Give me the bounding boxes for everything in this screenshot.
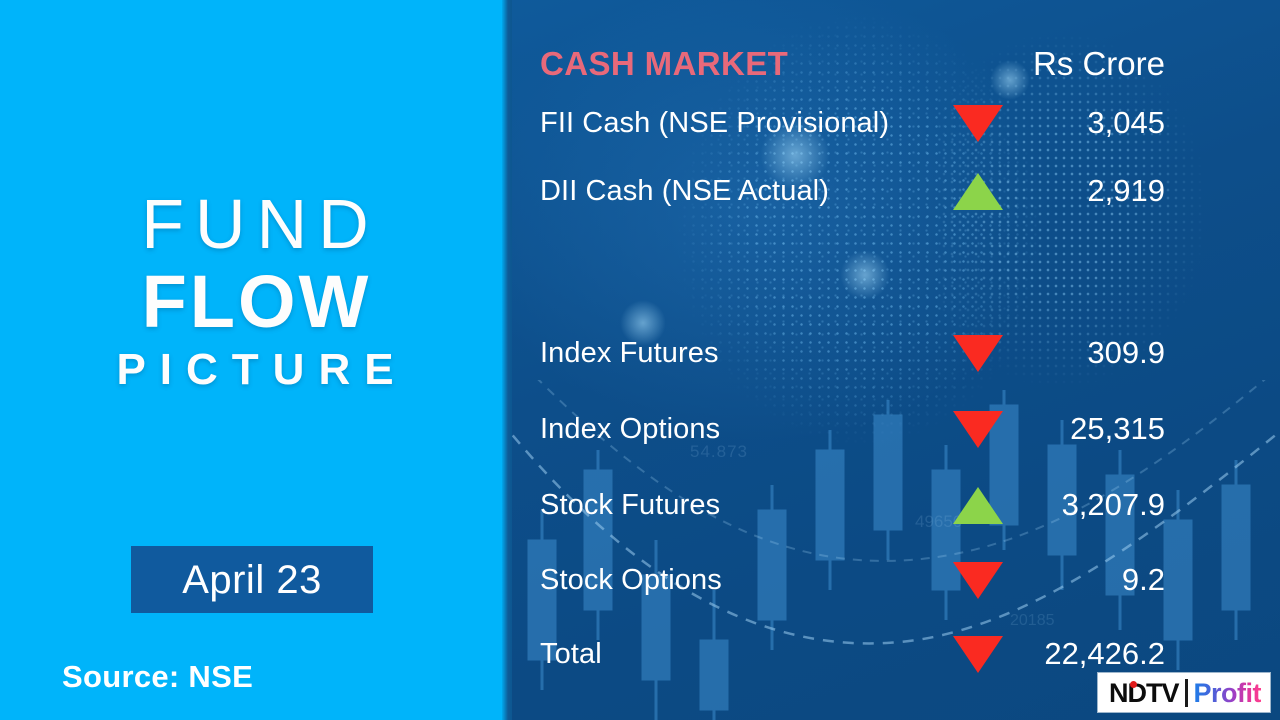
brand-line-picture: PICTURE [0,342,510,398]
row-label: Total [540,628,602,680]
data-panel: 54.873 49650 20185 CASH MARKET Rs Crore … [510,0,1280,720]
source-label: Source: NSE [62,659,253,695]
date-badge: April 23 [131,546,373,613]
profit-wordmark: Profit [1194,679,1262,707]
section-title-cash-market: CASH MARKET [540,41,788,87]
fund-flow-graphic: 54.873 49650 20185 CASH MARKET Rs Crore … [0,0,1280,720]
table-row: Stock Futures 3,207.9 [510,479,1280,531]
fund-flow-table: CASH MARKET Rs Crore FII Cash (NSE Provi… [510,0,1280,720]
table-row: Stock Options 9.2 [510,554,1280,606]
table-row: Index Options 25,315 [510,403,1280,455]
table-row: DII Cash (NSE Actual) 2,919 [510,165,1280,217]
brand-wordmark: FUND FLOW PICTURE [0,186,510,398]
ndtv-wordmark: NDTV [1109,679,1179,707]
row-label: FII Cash (NSE Provisional) [540,97,889,149]
row-value: 9.2 [840,554,1165,606]
row-label: Stock Futures [540,479,720,531]
date-badge-label: April 23 [182,558,322,602]
unit-label: Rs Crore [820,41,1165,87]
row-value: 3,207.9 [840,479,1165,531]
row-label: Index Futures [540,327,719,379]
row-label: DII Cash (NSE Actual) [540,165,829,217]
ndtv-wordmark-text: NDTV [1109,678,1179,708]
brand-line-flow: FLOW [0,262,510,342]
row-value: 2,919 [840,165,1165,217]
brand-line-fund: FUND [0,186,510,262]
row-value: 309.9 [840,327,1165,379]
ndtv-profit-logo: NDTV Profit [1098,673,1270,712]
row-value: 25,315 [840,403,1165,455]
ndtv-red-dot-icon [1130,681,1137,688]
row-value: 3,045 [840,97,1165,149]
title-panel: FUND FLOW PICTURE April 23 Source: NSE [0,0,510,720]
logo-divider [1185,679,1188,707]
panel-divider [502,0,512,720]
row-label: Stock Options [540,554,722,606]
table-row: Index Futures 309.9 [510,327,1280,379]
row-label: Index Options [540,403,720,455]
table-row: FII Cash (NSE Provisional) 3,045 [510,97,1280,149]
